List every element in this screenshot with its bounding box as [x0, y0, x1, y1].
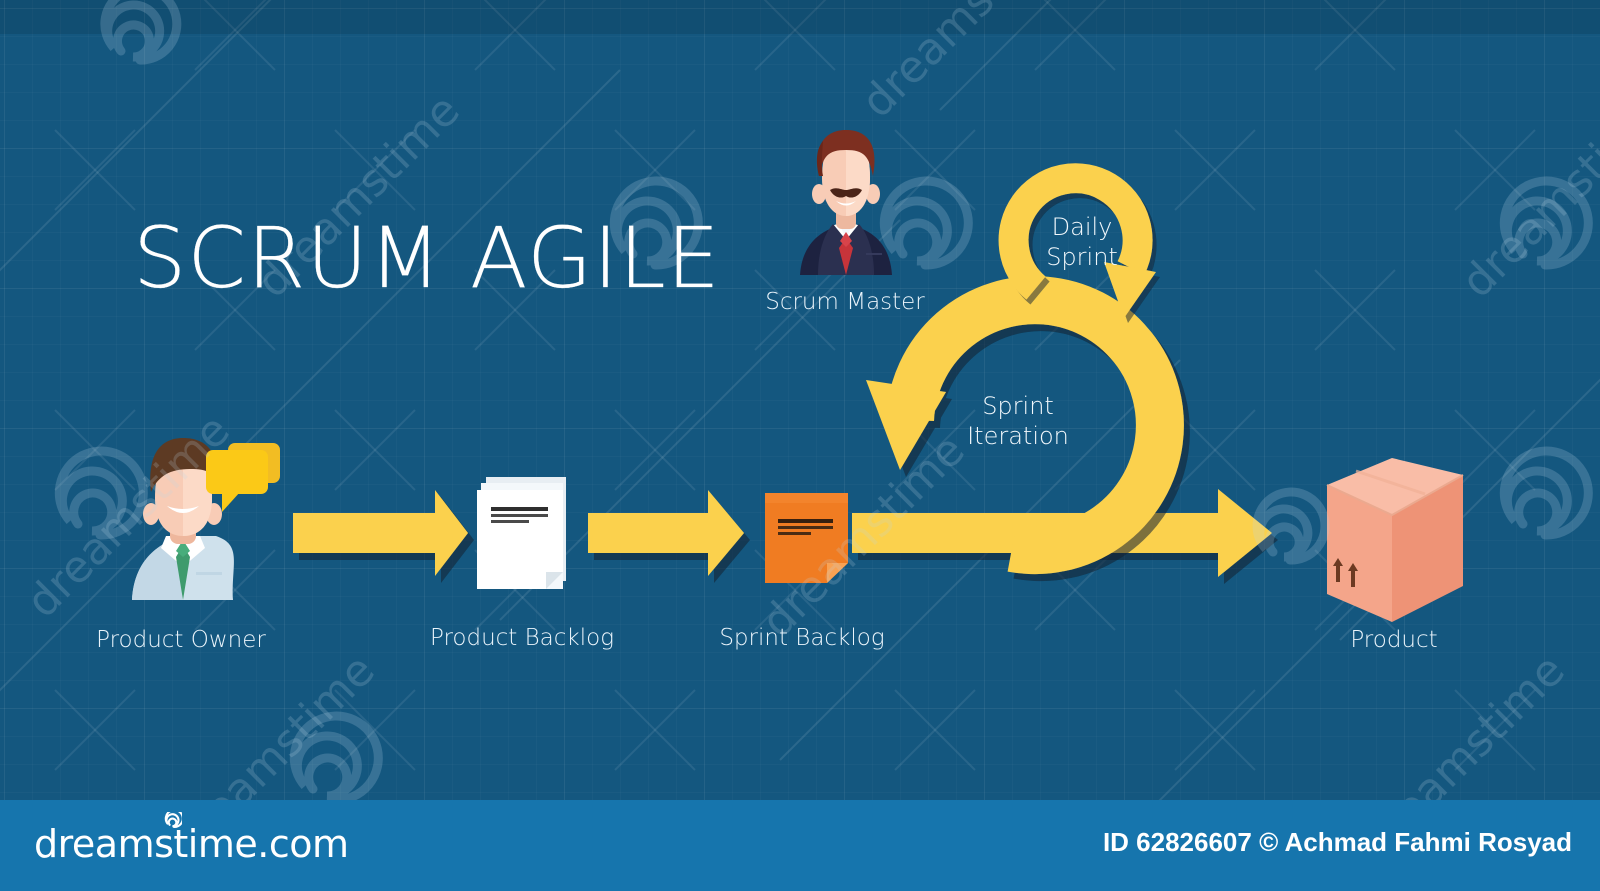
diagram-artwork: [0, 0, 1600, 891]
image-credit: ID 62826607 © Achmad Fahmi Rosyad: [1103, 827, 1572, 858]
arrow-backlog-to-sprint: [588, 490, 744, 576]
label-sprint-backlog: Sprint Backlog: [719, 625, 884, 651]
label-sprint-iteration-line2: Iteration: [967, 422, 1069, 452]
product-box: [1327, 458, 1463, 622]
label-daily-sprint-line1: Daily: [1046, 213, 1118, 243]
sprint-iteration-loop: [866, 290, 1267, 630]
label-product-backlog: Product Backlog: [430, 625, 614, 651]
label-daily-sprint-line2: Sprint: [1046, 243, 1118, 273]
label-sprint-iteration-line1: Sprint: [967, 392, 1069, 422]
dreamstime-logo-text[interactable]: dreamstime.com: [34, 822, 348, 866]
footer-bar: dreamstime.com ID 62826607 © Achmad Fahm…: [0, 800, 1600, 891]
label-daily-sprint: Daily Sprint: [1046, 213, 1118, 273]
arrow-owner-to-backlog: [293, 490, 468, 576]
scrum-master-avatar: [800, 130, 892, 275]
label-scrum-master: Scrum Master: [765, 289, 925, 315]
label-product: Product: [1350, 627, 1437, 653]
page-title: SCRUM AGILE: [133, 216, 721, 300]
scrum-agile-infographic: dreamstime dreamstime dreamstime dreamst…: [0, 0, 1600, 891]
sprint-backlog-sticky-note: [765, 493, 848, 583]
speech-bubble-front: [206, 450, 268, 512]
spiral-icon: [152, 812, 182, 842]
product-backlog-documents: [477, 477, 566, 589]
label-product-owner: Product Owner: [96, 627, 266, 653]
label-sprint-iteration: Sprint Iteration: [967, 392, 1069, 452]
